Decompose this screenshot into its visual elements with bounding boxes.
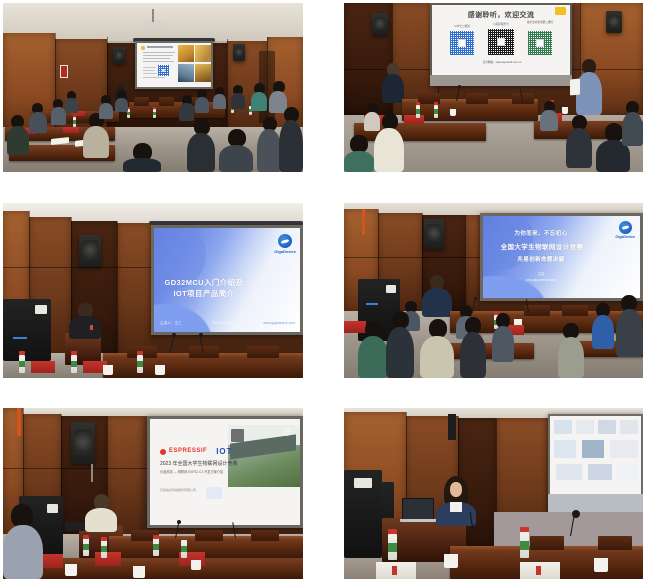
chair-2 [466, 93, 488, 104]
audience-left-6 [99, 95, 113, 119]
slide-title-line2: IOT项目产品简介 [154, 289, 254, 298]
slide-thumb-7 [610, 440, 638, 458]
paper-cup-2 [133, 566, 145, 578]
water-bottle-4 [153, 109, 156, 118]
speaker-cable [91, 464, 93, 482]
rack-indicator [13, 337, 27, 339]
audience-body [616, 309, 643, 357]
audience-body [566, 128, 592, 168]
scene-auditorium-wide [3, 3, 303, 172]
water-bottle-1 [388, 534, 397, 560]
audience-3 [344, 135, 374, 172]
held-paper [570, 78, 580, 95]
slide-title-line3: 兆易创新命题讲解 [489, 257, 593, 264]
water-bottle-4 [181, 540, 187, 558]
bottle-cap-2 [101, 537, 107, 541]
wall-panel-4 [466, 215, 480, 313]
audience-right-2 [195, 89, 209, 113]
projection-screen: GigaDevice GD32MCU入门介绍及 IOT项目产品简介 主讲人：王工… [151, 225, 303, 335]
water-bottle-2 [71, 355, 77, 373]
audience-left-4 [65, 91, 78, 113]
audience-right-4 [231, 85, 245, 109]
rack-indicator [366, 303, 378, 305]
wall-accent-stripe [362, 209, 365, 235]
desk-cloth-1 [31, 361, 55, 373]
audience-body [251, 92, 267, 111]
photo-top-right[interactable]: 感谢聆听，欢迎交流 公众号二维码 小程序服务号 技术支持交流群二维码 官方网站：… [344, 3, 643, 172]
slide-qr: 感谢聆听，欢迎交流 公众号二维码 小程序服务号 技术支持交流群二维码 官方网站：… [432, 5, 570, 84]
audience-body [219, 145, 253, 172]
head-chair-2 [159, 97, 174, 106]
speaker-left [372, 13, 388, 35]
audience-left-1 [7, 115, 29, 155]
screen-shadow [548, 494, 643, 512]
gigadevice-wordmark: GigaDevice [274, 249, 296, 254]
projector-mount [152, 9, 154, 22]
iot-badge: IOT [216, 447, 232, 457]
audience-5 [566, 115, 592, 168]
water-bottle-3 [153, 538, 159, 556]
paper-cup-2 [155, 365, 165, 375]
bottle-cap-3 [153, 535, 159, 539]
qr-code-1 [450, 31, 474, 55]
bottle-cap-2 [71, 351, 77, 355]
audience-2 [374, 113, 404, 172]
audience-body [3, 525, 43, 579]
projection-screen: ESPRESSIF IOT 2023 年全国大学生物联网设计竞赛 乐鑫科技 — … [147, 416, 303, 528]
photo-bottom-left[interactable]: ESPRESSIF IOT 2023 年全国大学生物联网设计竞赛 乐鑫科技 — … [3, 408, 303, 579]
chair-2 [598, 536, 632, 550]
audience-right-1 [179, 95, 194, 121]
slide-thumb-6 [582, 440, 604, 458]
desk-cloth-mark-1 [392, 566, 397, 575]
audience-front-center [123, 143, 161, 172]
presenter [85, 494, 117, 532]
slide-espressif: ESPRESSIF IOT 2023 年全国大学生物联网设计竞赛 乐鑫科技 — … [150, 419, 300, 525]
presenter-body [422, 288, 452, 317]
audience-foreground [3, 504, 43, 579]
slide-note: 乐鑫信息科技股份有限公司 [160, 489, 196, 493]
laptop-screen [402, 498, 434, 520]
audience-body [374, 128, 404, 172]
rack-label [354, 478, 372, 488]
audience-body [460, 332, 486, 378]
paper-cup-1 [65, 564, 77, 576]
projection-screen: GigaDevice 为你而来，不忘初心 全国大学生物联网设计竞赛 兆易创新命题… [480, 213, 643, 301]
audience-right-7 [187, 119, 215, 172]
gigadevice-wordmark: GigaDevice [615, 235, 635, 239]
slide-heading: 2023 年全国大学生物联网设计竞赛 [160, 461, 238, 467]
audience-4 [420, 319, 454, 378]
slide-title-line1: 为你而来，不忘初心 [489, 231, 593, 238]
audience-body [257, 129, 281, 172]
slide-title: 感谢聆听，欢迎交流 [432, 12, 570, 21]
slide-sub-1: 主讲 [489, 272, 593, 276]
fire-extinguisher-sign [60, 65, 68, 78]
audience-desk-1 [444, 343, 534, 359]
slide-white-document [137, 43, 211, 87]
slide-photo-bulb [282, 427, 291, 436]
slide-footer-right: www.gigadevice.com [263, 321, 295, 325]
qr-footer: 官方网站：www.espressif.com.cn [472, 61, 532, 64]
slide-footer-mid: 2019/05/31 [212, 321, 230, 325]
photo-mid-left[interactable]: GigaDevice GD32MCU入门介绍及 IOT项目产品简介 主讲人：王工… [3, 203, 303, 378]
presenter [69, 303, 101, 339]
ceiling-projector [143, 21, 163, 28]
microphone-head-1 [177, 520, 181, 524]
gigadevice-mark [619, 221, 632, 234]
audience-7 [492, 313, 514, 362]
microphone-head-1 [474, 297, 477, 300]
paper-cup-1 [450, 109, 456, 116]
qr-caption-2: 小程序服务号 [484, 23, 518, 26]
paper-cup-3 [191, 560, 201, 570]
slide-qr-code [158, 65, 169, 76]
audience-right-8 [219, 129, 253, 172]
audience-2 [358, 321, 388, 378]
laptop-base [400, 519, 436, 522]
gigadevice-mark [278, 234, 292, 248]
paper-cup-1 [444, 554, 458, 568]
screen-surface [137, 43, 211, 87]
audience-8 [592, 303, 614, 349]
audience-body [344, 151, 374, 172]
slide-thumb-3 [598, 420, 616, 434]
audience-left-7 [115, 91, 128, 112]
rack-label [35, 305, 47, 314]
bottle-cap-2 [520, 527, 529, 532]
slide-thumb-4 [620, 420, 638, 434]
espressif-logo-row: ESPRESSIF IOT [160, 447, 233, 457]
slide-subheading: 乐鑫科技 — 物联网 ESP32-C3 开发方案介绍 [160, 470, 223, 474]
water-bottle-1 [83, 538, 89, 556]
wall-seam-3 [117, 221, 118, 359]
audience-body [279, 120, 303, 172]
slide-note-block [206, 487, 222, 499]
audience-right-9 [257, 117, 281, 172]
slide-thumb-8 [556, 464, 582, 480]
bottle-cap-1 [416, 102, 420, 105]
head-chair-1 [134, 97, 149, 106]
speaker-left [113, 47, 125, 64]
slide-thumb-2 [576, 420, 594, 434]
water-bottle-1 [416, 105, 420, 118]
water-bottle-3 [137, 355, 143, 373]
audience-left-2 [29, 103, 47, 133]
qr-caption-1: 公众号二维码 [446, 25, 478, 28]
chair-3 [512, 93, 534, 104]
projection-screen: 感谢聆听，欢迎交流 公众号二维码 小程序服务号 技术支持交流群二维码 官方网站：… [430, 3, 572, 86]
slide-sub-2: www.gigadevice.com [489, 278, 593, 282]
desk-cloth-3 [95, 552, 121, 566]
chair-2 [562, 305, 588, 316]
scene-gd32-slide: GigaDevice GD32MCU入门介绍及 IOT项目产品简介 主讲人：王工… [3, 203, 303, 378]
bottle-cap-2 [73, 115, 76, 117]
ceiling-speaker [71, 422, 95, 464]
presenter [422, 275, 452, 317]
microphone-head-1 [172, 333, 176, 337]
bottle-cap-1 [83, 535, 89, 539]
bottle-cap-1 [388, 529, 397, 534]
audience-body [187, 133, 215, 172]
presenter-body [69, 316, 101, 339]
projection-screen [135, 41, 213, 89]
audience-body [123, 158, 161, 172]
audience-9 [616, 295, 643, 357]
qr-caption-3: 技术支持交流群二维码 [520, 21, 560, 24]
audience-right-3 [213, 87, 226, 109]
audience-body [51, 107, 66, 125]
chair-3 [247, 346, 279, 358]
slide-thumb-5 [554, 440, 576, 458]
desk-cloth-2 [404, 115, 424, 124]
photo-mid-right[interactable]: GigaDevice 为你而来，不忘初心 全国大学生物联网设计竞赛 兆易创新命题… [344, 203, 643, 378]
rack-label [47, 504, 58, 513]
presenter-left [382, 63, 404, 103]
audience-body [540, 110, 558, 131]
paper-cup-2 [562, 107, 568, 114]
water-bottle-2 [434, 105, 438, 118]
desk-cloth-mark-2 [536, 566, 541, 575]
audience-body [7, 126, 29, 155]
paper-cup-1 [103, 365, 113, 375]
qr-code-2 [488, 29, 514, 55]
photo-top-left[interactable] [3, 3, 303, 172]
paper-cup-2 [594, 558, 608, 572]
audience-body [195, 97, 209, 113]
wall-panel-4 [117, 223, 153, 359]
slide-competition: GigaDevice 为你而来，不忘初心 全国大学生物联网设计竞赛 兆易创新命题… [483, 216, 640, 298]
photo-bottom-right[interactable] [344, 408, 643, 579]
audience-7 [622, 101, 643, 146]
slide-title-line1: GD32MCU入门介绍及 [154, 278, 254, 287]
qr-code-3 [528, 31, 552, 55]
slide-thumb-10 [616, 464, 638, 480]
speaker-right [233, 44, 245, 61]
scene-auditorium-qr: 感谢聆听，欢迎交流 公众号二维码 小程序服务号 技术支持交流群二维码 官方网站：… [344, 3, 643, 172]
audience-body [231, 93, 245, 109]
audience-body [358, 336, 388, 378]
microphone-head-1 [458, 85, 461, 88]
audience-body [115, 98, 128, 112]
speaker-right [606, 11, 622, 33]
audience-body [29, 112, 47, 133]
scene-competition-slide: GigaDevice 为你而来，不忘初心 全国大学生物联网设计竞赛 兆易创新命题… [344, 203, 643, 378]
bottle-cap-1 [19, 351, 25, 355]
screen-surface: GigaDevice 为你而来，不忘初心 全国大学生物联网设计竞赛 兆易创新命题… [483, 216, 640, 298]
desk-cloth-left-2 [63, 127, 79, 133]
presenter-face [450, 482, 462, 497]
scene-espressif-slide: ESPRESSIF IOT 2023 年全国大学生物联网设计竞赛 乐鑫科技 — … [3, 408, 303, 579]
screen-surface: GigaDevice GD32MCU入门介绍及 IOT项目产品简介 主讲人：王工… [154, 228, 300, 332]
slide-thumb-9 [588, 464, 612, 480]
audience-body [492, 326, 514, 362]
scene-female-presenter [344, 408, 643, 579]
audience-body [592, 315, 614, 349]
audience-body [622, 112, 643, 146]
audience-body [558, 337, 584, 378]
screen-surface: ESPRESSIF IOT 2023 年全国大学生物联网设计竞赛 乐鑫科技 — … [150, 419, 300, 525]
presenter-body [85, 508, 117, 532]
bottle-cap-4 [153, 107, 156, 109]
gigadevice-logo: GigaDevice [615, 221, 635, 239]
audience-body [386, 327, 414, 378]
espressif-wordmark: ESPRESSIF [169, 448, 207, 456]
slide-footer-left: 主讲人：王工 [160, 321, 182, 325]
audience-body [65, 98, 78, 113]
presenter-body [382, 74, 404, 103]
audience-right-5 [251, 83, 267, 111]
audience-right-10 [279, 107, 303, 172]
slide-title-line2: 全国大学生物联网设计竞赛 [487, 244, 597, 252]
bottle-cap-3 [137, 351, 143, 355]
microphone-head-2 [572, 510, 580, 518]
audience-body [420, 336, 454, 378]
presenter-collar [450, 502, 462, 512]
photo-grid: 感谢聆听，欢迎交流 公众号二维码 小程序服务号 技术支持交流群二维码 官方网站：… [0, 0, 653, 582]
water-bottle-2 [101, 540, 107, 558]
rack-label [386, 285, 396, 293]
audience-left-5 [83, 113, 109, 158]
wall-seam-3 [227, 39, 228, 135]
water-bottle-2 [73, 117, 76, 127]
ceiling-speaker [424, 219, 444, 249]
screen-surface: 感谢聆听，欢迎交流 公众号二维码 小程序服务号 技术支持交流群二维码 官方网站：… [432, 5, 570, 84]
bottle-cap-2 [434, 102, 438, 105]
wall-accent-stripe [17, 408, 21, 436]
ceiling-mount [448, 414, 456, 440]
slide-thumb-1 [554, 420, 572, 434]
chair-3 [251, 530, 279, 541]
audience-body [83, 126, 109, 158]
slide-gd32: GigaDevice GD32MCU入门介绍及 IOT项目产品简介 主讲人：王工… [154, 228, 300, 332]
espressif-mark-icon [160, 449, 166, 455]
chair-1 [530, 536, 564, 550]
audience-body [213, 94, 226, 109]
slide-photo-badge [231, 429, 244, 442]
presenter-badge [90, 325, 93, 330]
audience-4 [540, 101, 558, 131]
gigadevice-logo: GigaDevice [274, 234, 296, 254]
ceiling-speaker [79, 235, 101, 267]
audience-10 [558, 323, 584, 378]
chair-2 [195, 530, 223, 541]
water-bottle-2 [520, 532, 529, 558]
microphone-head-2 [199, 333, 203, 337]
audience-body [99, 103, 113, 119]
audience-left-3 [51, 99, 66, 125]
audience-6 [460, 317, 486, 378]
audience-3 [386, 311, 414, 378]
water-bottle-1 [19, 355, 25, 373]
